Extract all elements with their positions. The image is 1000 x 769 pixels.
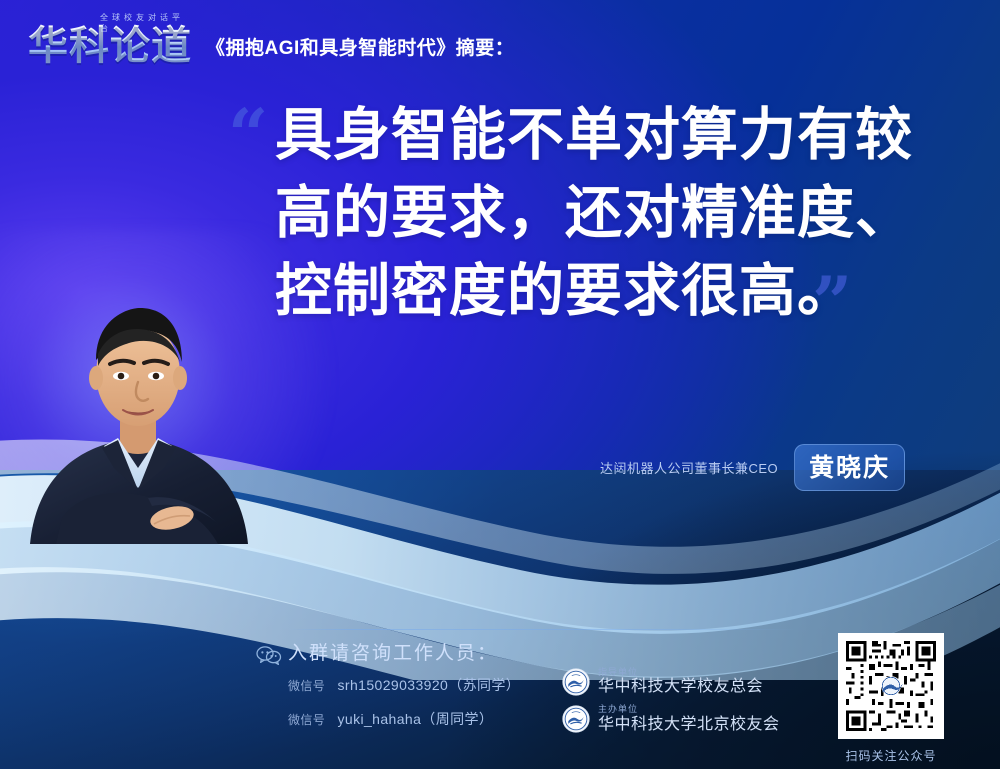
quote-line: 具身智能不单对算力有较: [275, 96, 955, 174]
contact-label: 微信号: [288, 679, 325, 693]
logo-tagline: 全球校友对话平台: [100, 12, 192, 34]
poster-canvas: 全球校友对话平台 华科论道 《拥抱AGI和具身智能时代》摘要： “ ” 具身智能…: [0, 0, 1000, 769]
quote-line: 高的要求，还对精准度、: [275, 174, 955, 252]
organization-kind: 主办单位: [598, 705, 780, 714]
organization-row: 指导单位 华中科技大学校友总会: [562, 668, 780, 696]
page-title: 《拥抱AGI和具身智能时代》摘要：: [206, 33, 514, 66]
header: 全球校友对话平台 华科论道 《拥抱AGI和具身智能时代》摘要：: [28, 14, 514, 66]
contact-row: 微信号 srh15029033920（苏同学）: [288, 675, 520, 695]
organization-kind: 指导单位: [598, 668, 763, 677]
contact-value: yuki_hahaha（周同学）: [338, 711, 494, 727]
qr-caption: 扫码关注公众号: [838, 747, 944, 764]
organization-name: 华中科技大学校友总会: [598, 679, 763, 696]
speaker-name-badge: 黄晓庆: [794, 444, 905, 491]
contact-value: srh15029033920（苏同学）: [338, 677, 521, 693]
quote-open-mark: “: [228, 100, 268, 170]
section-divider: [288, 629, 798, 630]
contact-heading: 入群请咨询工作人员：: [288, 638, 520, 665]
hust-emblem-icon: [562, 705, 590, 733]
speaker-portrait: [22, 292, 254, 544]
contact-row: 微信号 yuki_hahaha（周同学）: [288, 709, 520, 729]
speaker-role: 达闼机器人公司董事长兼CEO: [600, 458, 778, 477]
qr-block[interactable]: 扫码关注公众号: [838, 633, 944, 764]
organization-row: 主办单位 华中科技大学北京校友会: [562, 705, 780, 733]
wechat-icon: [256, 645, 282, 665]
organization-text: 主办单位 华中科技大学北京校友会: [598, 705, 780, 733]
qr-code-icon[interactable]: [838, 633, 944, 739]
hust-emblem-icon: [562, 668, 590, 696]
quote-line: 控制密度的要求很高。: [275, 252, 955, 330]
organization-text: 指导单位 华中科技大学校友总会: [598, 668, 763, 696]
quote-text: 具身智能不单对算力有较 高的要求，还对精准度、 控制密度的要求很高。: [275, 96, 955, 330]
organizations-block: 指导单位 华中科技大学校友总会 主办单位 华中科技大学北京校友会: [562, 668, 780, 742]
contact-block: 入群请咨询工作人员： 微信号 srh15029033920（苏同学） 微信号 y…: [288, 638, 520, 743]
brand-logo[interactable]: 全球校友对话平台 华科论道: [28, 14, 192, 66]
contact-label: 微信号: [288, 713, 325, 727]
speaker-attribution: 达闼机器人公司董事长兼CEO 黄晓庆: [600, 444, 905, 491]
organization-name: 华中科技大学北京校友会: [598, 717, 780, 734]
